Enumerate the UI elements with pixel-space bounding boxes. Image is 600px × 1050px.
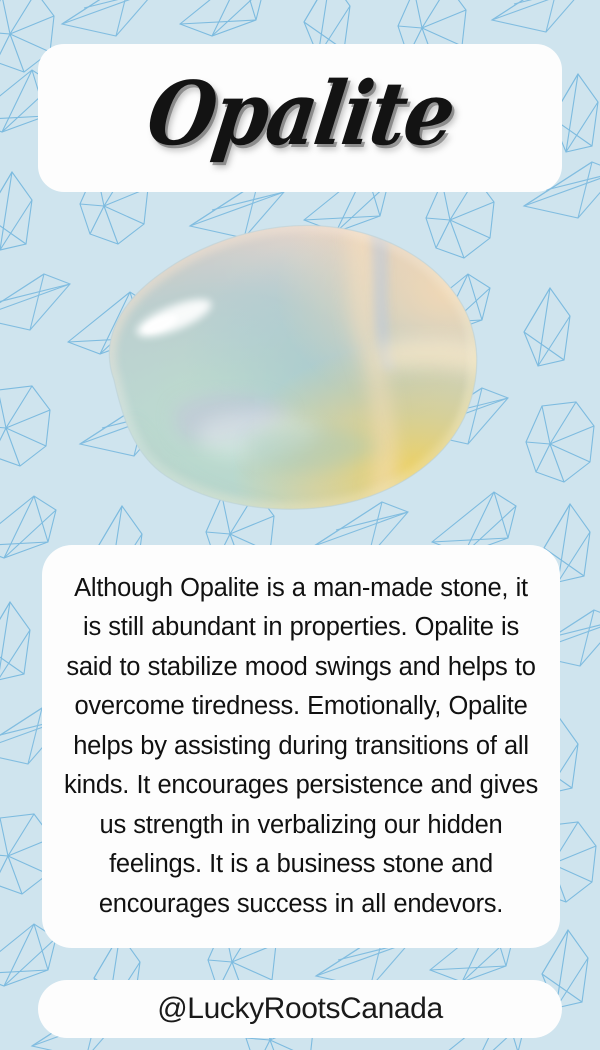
page-title: Opalite — [141, 71, 458, 165]
description-card: Although Opalite is a man-made stone, it… — [42, 545, 560, 948]
description-body: Although Opalite is a man-made stone, it… — [62, 569, 540, 925]
opalite-stone-image — [78, 212, 508, 522]
social-handle[interactable]: @LuckyRootsCanada — [157, 992, 442, 1026]
footer-handle-card: @LuckyRootsCanada — [38, 980, 562, 1038]
title-card: Opalite — [38, 44, 562, 192]
